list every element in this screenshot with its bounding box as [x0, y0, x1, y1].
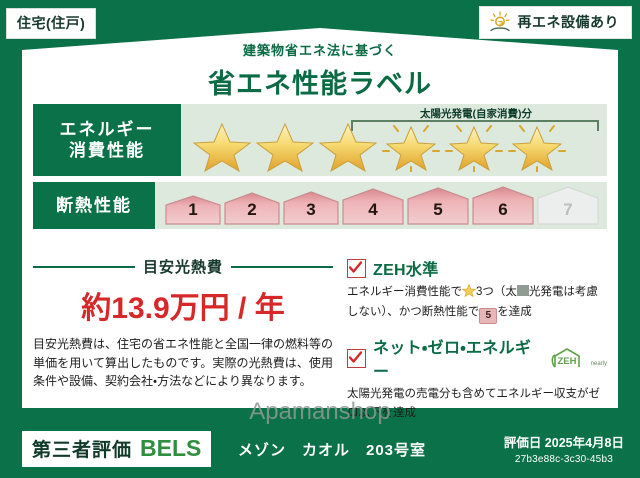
insulation-level-6: 6 — [472, 186, 534, 225]
bels-en-text: BELS — [140, 435, 201, 462]
evaluation-id: 27b3e88c-3c30-45b3 — [504, 454, 624, 465]
zeh-standard-title: ZEH水準 — [373, 256, 439, 280]
checkmark-icon — [347, 259, 366, 278]
rule-right — [231, 266, 333, 268]
energy-performance-row: エネルギー 消費性能 太陽光発電(自家消費)分 — [33, 104, 607, 176]
title-main: 省エネ性能ラベル — [0, 62, 640, 101]
label-footer: 第三者評価 BELS メゾン カオル 203号室 評価日 2025年4月8日 2… — [0, 422, 640, 478]
net-zero-energy-block: ネット・ゼロ・エネルギー ZEH nearly 太陽光発電の売電分も含めてエネル… — [347, 334, 607, 422]
svg-text:ZEH: ZEH — [557, 356, 576, 367]
star-solar-icon — [506, 120, 568, 172]
insulation-level-7: 7 — [537, 186, 599, 225]
zeh-standard-header: ZEH水準 — [347, 256, 607, 280]
insulation-level-label: 4 — [342, 200, 404, 220]
zeh-standard-description: エネルギー消費性能で3つ（太光発電は考慮しない）、かつ断熱性能で5を達成 — [347, 283, 607, 324]
zeh-desc-part-e: を達成 — [497, 306, 532, 318]
title-subtitle: 建築物省エネ法に基づく — [0, 40, 640, 59]
details-section: 目安光熱費 約13.9万円 / 年 目安光熱費は、住宅の省エネ性能と全国一律の燃… — [33, 256, 607, 432]
insulation-level-label: 3 — [283, 200, 339, 220]
redacted-block — [517, 285, 529, 296]
star-icon — [191, 120, 253, 172]
insulation-level-label: 1 — [165, 200, 221, 220]
performance-section: エネルギー 消費性能 太陽光発電(自家消費)分 — [33, 104, 607, 235]
star-icon — [254, 120, 316, 172]
building-name: メゾン カオル 203号室 — [238, 439, 426, 460]
insulation-level-label: 2 — [224, 200, 280, 220]
house-type-tag: 住宅(住戸) — [6, 8, 96, 39]
energy-stars-panel: 太陽光発電(自家消費)分 — [181, 104, 607, 176]
energy-performance-label: 住宅(住戸) 再エネ設備あり 建築物省エネ法に基づく 省エネ性能ラベル — [0, 0, 640, 478]
zeh-desc-part-b: 3つ（太 — [476, 286, 517, 298]
star-solar-icon — [443, 120, 505, 172]
insulation-level-4: 4 — [342, 188, 404, 225]
net-zero-energy-title: ネット・ゼロ・エネルギー — [373, 334, 540, 382]
insulation-level-label: 5 — [407, 200, 469, 220]
energy-label-line2: 消費性能 — [69, 140, 145, 161]
insulation-level-inline: 5 — [479, 308, 497, 324]
insulation-performance-row: 断熱性能 1 2 3 — [33, 182, 607, 229]
renewable-badge-label: 再エネ設備あり — [518, 12, 620, 32]
net-zero-energy-description: 太陽光発電の売電分も含めてエネルギー収支がゼロ以下を達成 — [347, 385, 607, 422]
zeh-logo-subtext: nearly — [591, 361, 607, 367]
insulation-level-1: 1 — [165, 195, 221, 225]
insulation-level-2: 2 — [224, 192, 280, 225]
insulation-level-3: 3 — [283, 191, 339, 225]
insulation-level-scale: 1 2 3 4 5 — [155, 182, 607, 229]
renewable-energy-badge: 再エネ設備あり — [479, 6, 633, 39]
energy-label-line1: エネルギー — [60, 119, 155, 140]
zeh-standard-block: ZEH水準 エネルギー消費性能で3つ（太光発電は考慮しない）、かつ断熱性能で5を… — [347, 256, 607, 324]
solar-contribution-note: 太陽光発電(自家消費)分 — [353, 106, 599, 121]
bels-jp-text: 第三者評価 — [32, 435, 132, 462]
insulation-levels-panel: 1 2 3 4 5 — [155, 182, 607, 229]
zeh-desc-part-a: エネルギー消費性能で — [347, 286, 462, 298]
zeh-logo: ZEH nearly — [551, 347, 607, 369]
star-solar-icon — [380, 120, 442, 172]
energy-performance-label: エネルギー 消費性能 — [33, 104, 181, 176]
certification-column: ZEH水準 エネルギー消費性能で3つ（太光発電は考慮しない）、かつ断熱性能で5を… — [333, 256, 607, 432]
star-icon-inline — [462, 284, 476, 303]
zeh-desc-part-c: 光発電 — [529, 286, 564, 298]
sun-icon — [488, 11, 512, 33]
insulation-level-5: 5 — [407, 187, 469, 225]
utility-cost-title: 目安光熱費 — [143, 256, 223, 277]
insulation-level-label: 6 — [472, 200, 534, 220]
bels-logo: 第三者評価 BELS — [22, 431, 211, 467]
utility-cost-column: 目安光熱費 約13.9万円 / 年 目安光熱費は、住宅の省エネ性能と全国一律の燃… — [33, 256, 333, 432]
label-title: 建築物省エネ法に基づく 省エネ性能ラベル — [0, 40, 640, 101]
utility-cost-value: 約13.9万円 / 年 — [33, 283, 333, 327]
star-icon — [317, 120, 379, 172]
net-zero-energy-header: ネット・ゼロ・エネルギー ZEH nearly — [347, 334, 607, 382]
evaluation-date: 評価日 2025年4月8日 — [504, 432, 624, 451]
utility-cost-heading: 目安光熱費 — [33, 256, 333, 277]
insulation-label-text: 断熱性能 — [56, 195, 132, 216]
utility-cost-note: 目安光熱費は、住宅の省エネ性能と全国一律の燃料等の単価を用いて算出したものです。… — [33, 335, 333, 391]
evaluation-info: 評価日 2025年4月8日 27b3e88c-3c30-45b3 — [504, 432, 624, 465]
insulation-performance-label: 断熱性能 — [33, 182, 155, 229]
checkmark-icon — [347, 349, 366, 368]
rule-left — [33, 266, 135, 268]
insulation-level-label: 7 — [537, 200, 599, 220]
